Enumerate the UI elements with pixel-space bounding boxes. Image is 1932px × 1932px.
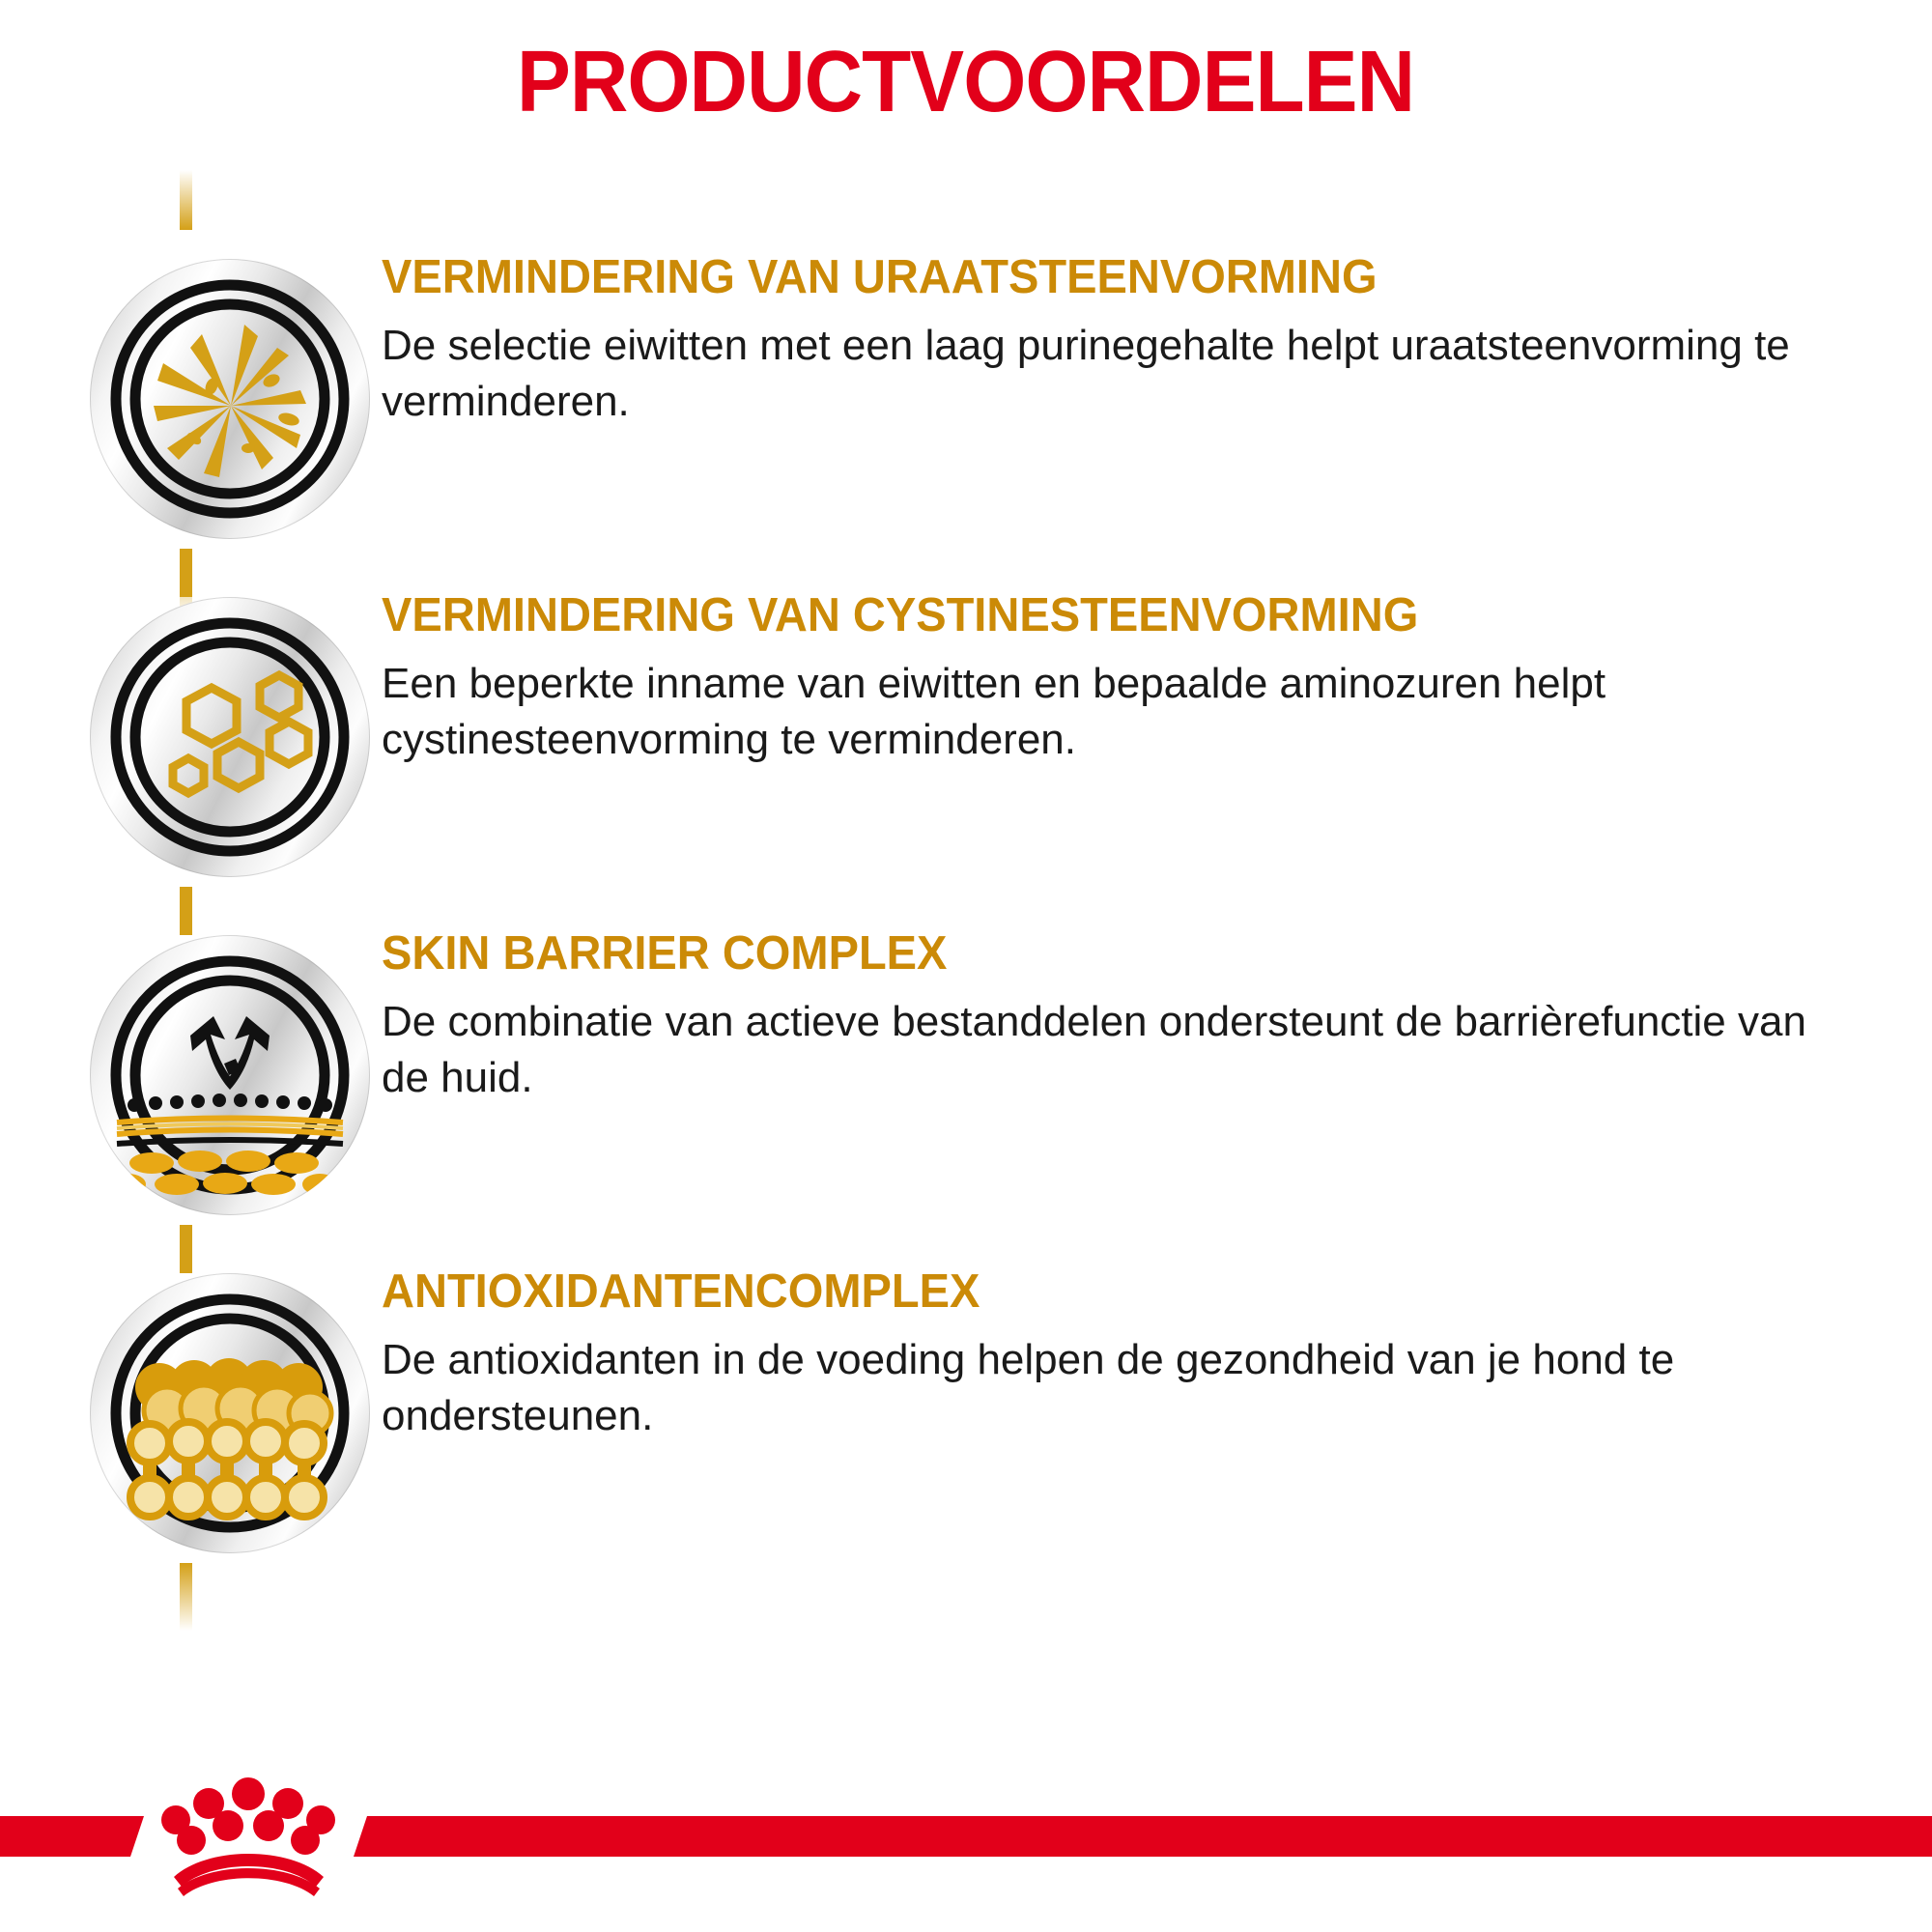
skin-barrier-complex-icon — [90, 935, 370, 1215]
benefit-text-column-4: ANTIOXIDANTENCOMPLEX De antioxidanten in… — [382, 1244, 1932, 1443]
product-benefits-page: PRODUCTVOORDELEN — [0, 0, 1932, 1932]
connector-line-top-fade — [180, 170, 192, 230]
footer — [0, 1763, 1932, 1932]
connector-line-2-top — [180, 549, 192, 597]
page-title-container: PRODUCTVOORDELEN — [0, 39, 1932, 126]
connector-line-3-top — [180, 887, 192, 935]
benefit-body-4: De antioxidanten in de voeding helpen de… — [382, 1332, 1831, 1442]
benefit-icon-column-3 — [0, 906, 382, 1244]
benefit-text-column-2: VERMINDERING VAN CYSTINESTEENVORMING Een… — [382, 568, 1932, 767]
benefit-heading-2: VERMINDERING VAN CYSTINESTEENVORMING — [382, 591, 1842, 640]
footer-bar-right — [367, 1816, 1932, 1857]
antioxidant-molecule-chain-icon — [90, 1273, 370, 1553]
benefit-heading-1: VERMINDERING VAN URAATSTEENVORMING — [382, 253, 1842, 302]
benefits-list: VERMINDERING VAN URAATSTEENVORMING De se… — [0, 230, 1932, 1582]
page-title: PRODUCTVOORDELEN — [517, 39, 1414, 126]
benefit-body-1: De selectie eiwitten met een laag purine… — [382, 318, 1831, 428]
benefit-item-3: SKIN BARRIER COMPLEX De combinatie van a… — [0, 906, 1932, 1244]
benefit-icon-column-2 — [0, 568, 382, 906]
benefit-icon-column-4 — [0, 1244, 382, 1582]
connector-line-4-bottom-fade — [180, 1563, 192, 1631]
benefit-item-1: VERMINDERING VAN URAATSTEENVORMING De se… — [0, 230, 1932, 568]
benefit-heading-3: SKIN BARRIER COMPLEX — [382, 929, 1842, 979]
benefit-text-column-1: VERMINDERING VAN URAATSTEENVORMING De se… — [382, 230, 1932, 429]
benefit-item-2: VERMINDERING VAN CYSTINESTEENVORMING Een… — [0, 568, 1932, 906]
urate-stone-burst-icon — [90, 259, 370, 539]
benefit-heading-4: ANTIOXIDANTENCOMPLEX — [382, 1267, 1842, 1317]
benefit-icon-column-1 — [0, 230, 382, 568]
footer-bar-left — [0, 1816, 130, 1857]
benefit-item-4: ANTIOXIDANTENCOMPLEX De antioxidanten in… — [0, 1244, 1932, 1582]
benefit-body-3: De combinatie van actieve bestanddelen o… — [382, 994, 1831, 1104]
benefit-body-2: Een beperkte inname van eiwitten en bepa… — [382, 656, 1831, 766]
benefit-text-column-3: SKIN BARRIER COMPLEX De combinatie van a… — [382, 906, 1932, 1105]
connector-line-4-top — [180, 1225, 192, 1273]
royal-canin-crown-icon — [135, 1773, 362, 1898]
cystine-crystal-hexagons-icon — [90, 597, 370, 877]
